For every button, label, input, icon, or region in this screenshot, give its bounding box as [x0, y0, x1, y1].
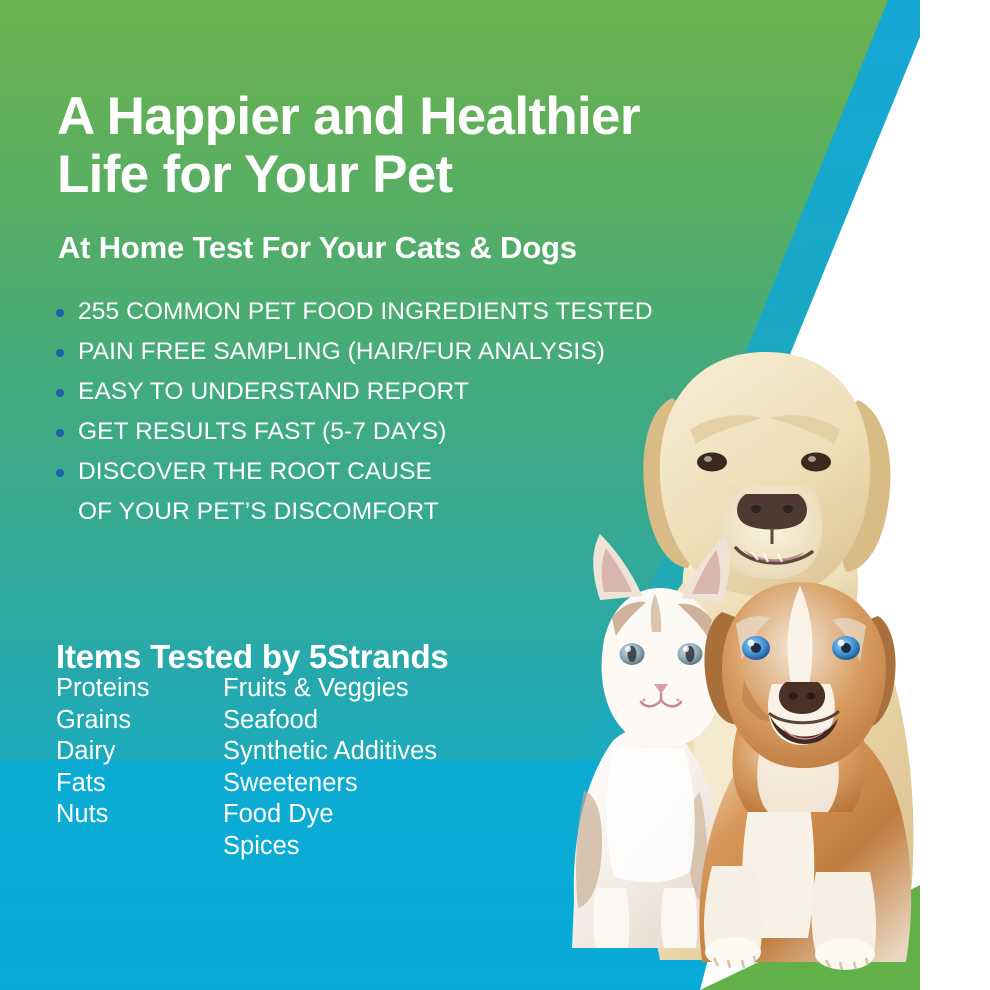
items-column-left: Proteins Grains Dairy Fats Nuts — [56, 673, 223, 862]
list-item: PAIN FREE SAMPLING (HAIR/FUR ANALYSIS) — [56, 340, 696, 365]
bullet-dot-icon — [56, 469, 64, 477]
list-item: Fats — [56, 768, 223, 800]
items-column-right: Fruits & Veggies Seafood Synthetic Addit… — [223, 673, 437, 862]
bullet-label: GET RESULTS FAST (5-7 DAYS) — [78, 418, 446, 445]
feature-bullet-list: 255 COMMON PET FOOD INGREDIENTS TESTED P… — [56, 300, 696, 540]
bullet-label: OF YOUR PET’S DISCOMFORT — [78, 498, 439, 525]
list-item: Proteins — [56, 673, 223, 705]
list-item: Sweeteners — [223, 768, 437, 800]
banner-content: A Happier and Healthier Life for Your Pe… — [0, 0, 990, 990]
bullet-label: 255 COMMON PET FOOD INGREDIENTS TESTED — [78, 298, 653, 325]
page-title: A Happier and Healthier Life for Your Pe… — [57, 88, 797, 206]
headline-line-2: Life for Your Pet — [57, 146, 797, 205]
list-item: EASY TO UNDERSTAND REPORT — [56, 380, 696, 405]
list-item: Synthetic Additives — [223, 736, 437, 768]
bullet-label: PAIN FREE SAMPLING (HAIR/FUR ANALYSIS) — [78, 338, 605, 365]
bullet-label: EASY TO UNDERSTAND REPORT — [78, 378, 469, 405]
list-item: 255 COMMON PET FOOD INGREDIENTS TESTED — [56, 300, 696, 325]
bullet-dot-icon — [56, 309, 64, 317]
items-tested-title: Items Tested by 5Strands — [56, 638, 676, 676]
bullet-dot-icon — [56, 429, 64, 437]
items-tested-columns: Proteins Grains Dairy Fats Nuts Fruits &… — [56, 673, 437, 862]
list-item: Grains — [56, 705, 223, 737]
list-item: Fruits & Veggies — [223, 673, 437, 705]
bullet-dot-icon — [56, 349, 64, 357]
list-item: DISCOVER THE ROOT CAUSE — [56, 460, 696, 485]
list-item: Spices — [223, 831, 437, 863]
subheadline: At Home Test For Your Cats & Dogs — [58, 229, 778, 266]
list-item: Food Dye — [223, 799, 437, 831]
headline-line-1: A Happier and Healthier — [57, 88, 797, 147]
bullet-label: DISCOVER THE ROOT CAUSE — [78, 458, 432, 485]
list-item: GET RESULTS FAST (5-7 DAYS) — [56, 420, 696, 445]
list-item: Nuts — [56, 799, 223, 831]
list-item-continuation: OF YOUR PET’S DISCOMFORT — [56, 500, 696, 525]
pet-test-banner: A Happier and Healthier Life for Your Pe… — [0, 0, 990, 990]
list-item: Dairy — [56, 736, 223, 768]
list-item: Seafood — [223, 705, 437, 737]
bullet-dot-icon — [56, 389, 64, 397]
